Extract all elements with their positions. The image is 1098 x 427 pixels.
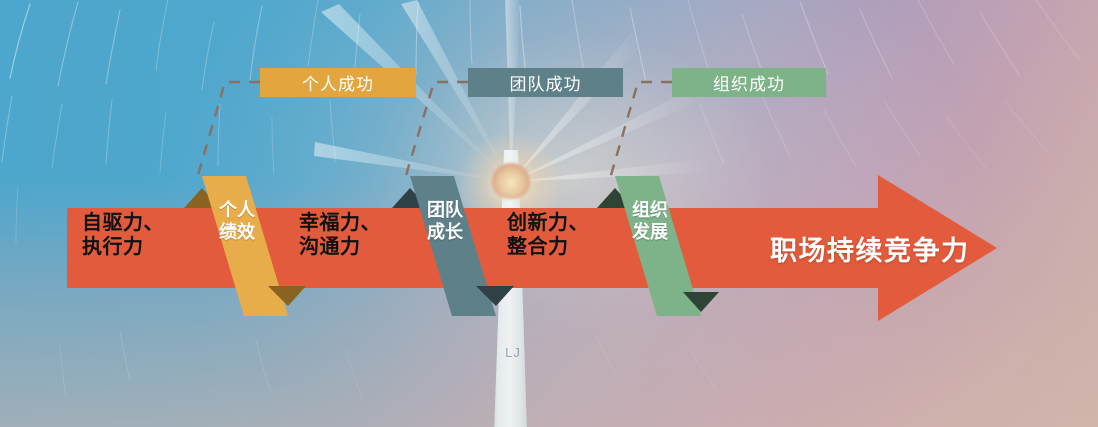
connector-line-personal [196, 82, 260, 182]
diagram-canvas: LJ 个人成功 团队成功 组织成功 自驱力、 执行力 幸福力、 沟通力 创新力、… [0, 0, 1098, 427]
chip-team-success-label: 团队成功 [510, 70, 582, 95]
chip-organization-success[interactable]: 组织成功 [672, 68, 826, 97]
segment-label-self-drive: 自驱力、 执行力 [82, 211, 164, 260]
band-organization-development-label: 组织 发展 [619, 200, 681, 243]
segment-label-innovation: 创新力、 整合力 [507, 211, 589, 260]
connector-line-organization [609, 82, 672, 182]
band-body-orange [202, 176, 288, 316]
band-personal-performance[interactable] [178, 172, 308, 320]
chip-organization-success-label: 组织成功 [713, 70, 785, 95]
chip-team-success[interactable]: 团队成功 [468, 68, 623, 97]
chip-personal-success[interactable]: 个人成功 [260, 68, 416, 97]
connector-line-team [404, 82, 468, 182]
segment-label-happiness: 幸福力、 沟通力 [299, 211, 381, 260]
band-personal-performance-label: 个人 绩效 [206, 200, 268, 243]
band-body-teal [410, 176, 496, 316]
chip-personal-success-label: 个人成功 [302, 70, 374, 95]
band-team-growth[interactable] [386, 172, 516, 320]
band-organization-development[interactable] [591, 172, 721, 320]
band-team-growth-label: 团队 成长 [414, 200, 476, 243]
arrow-final-label: 职场持续竞争力 [770, 229, 970, 268]
